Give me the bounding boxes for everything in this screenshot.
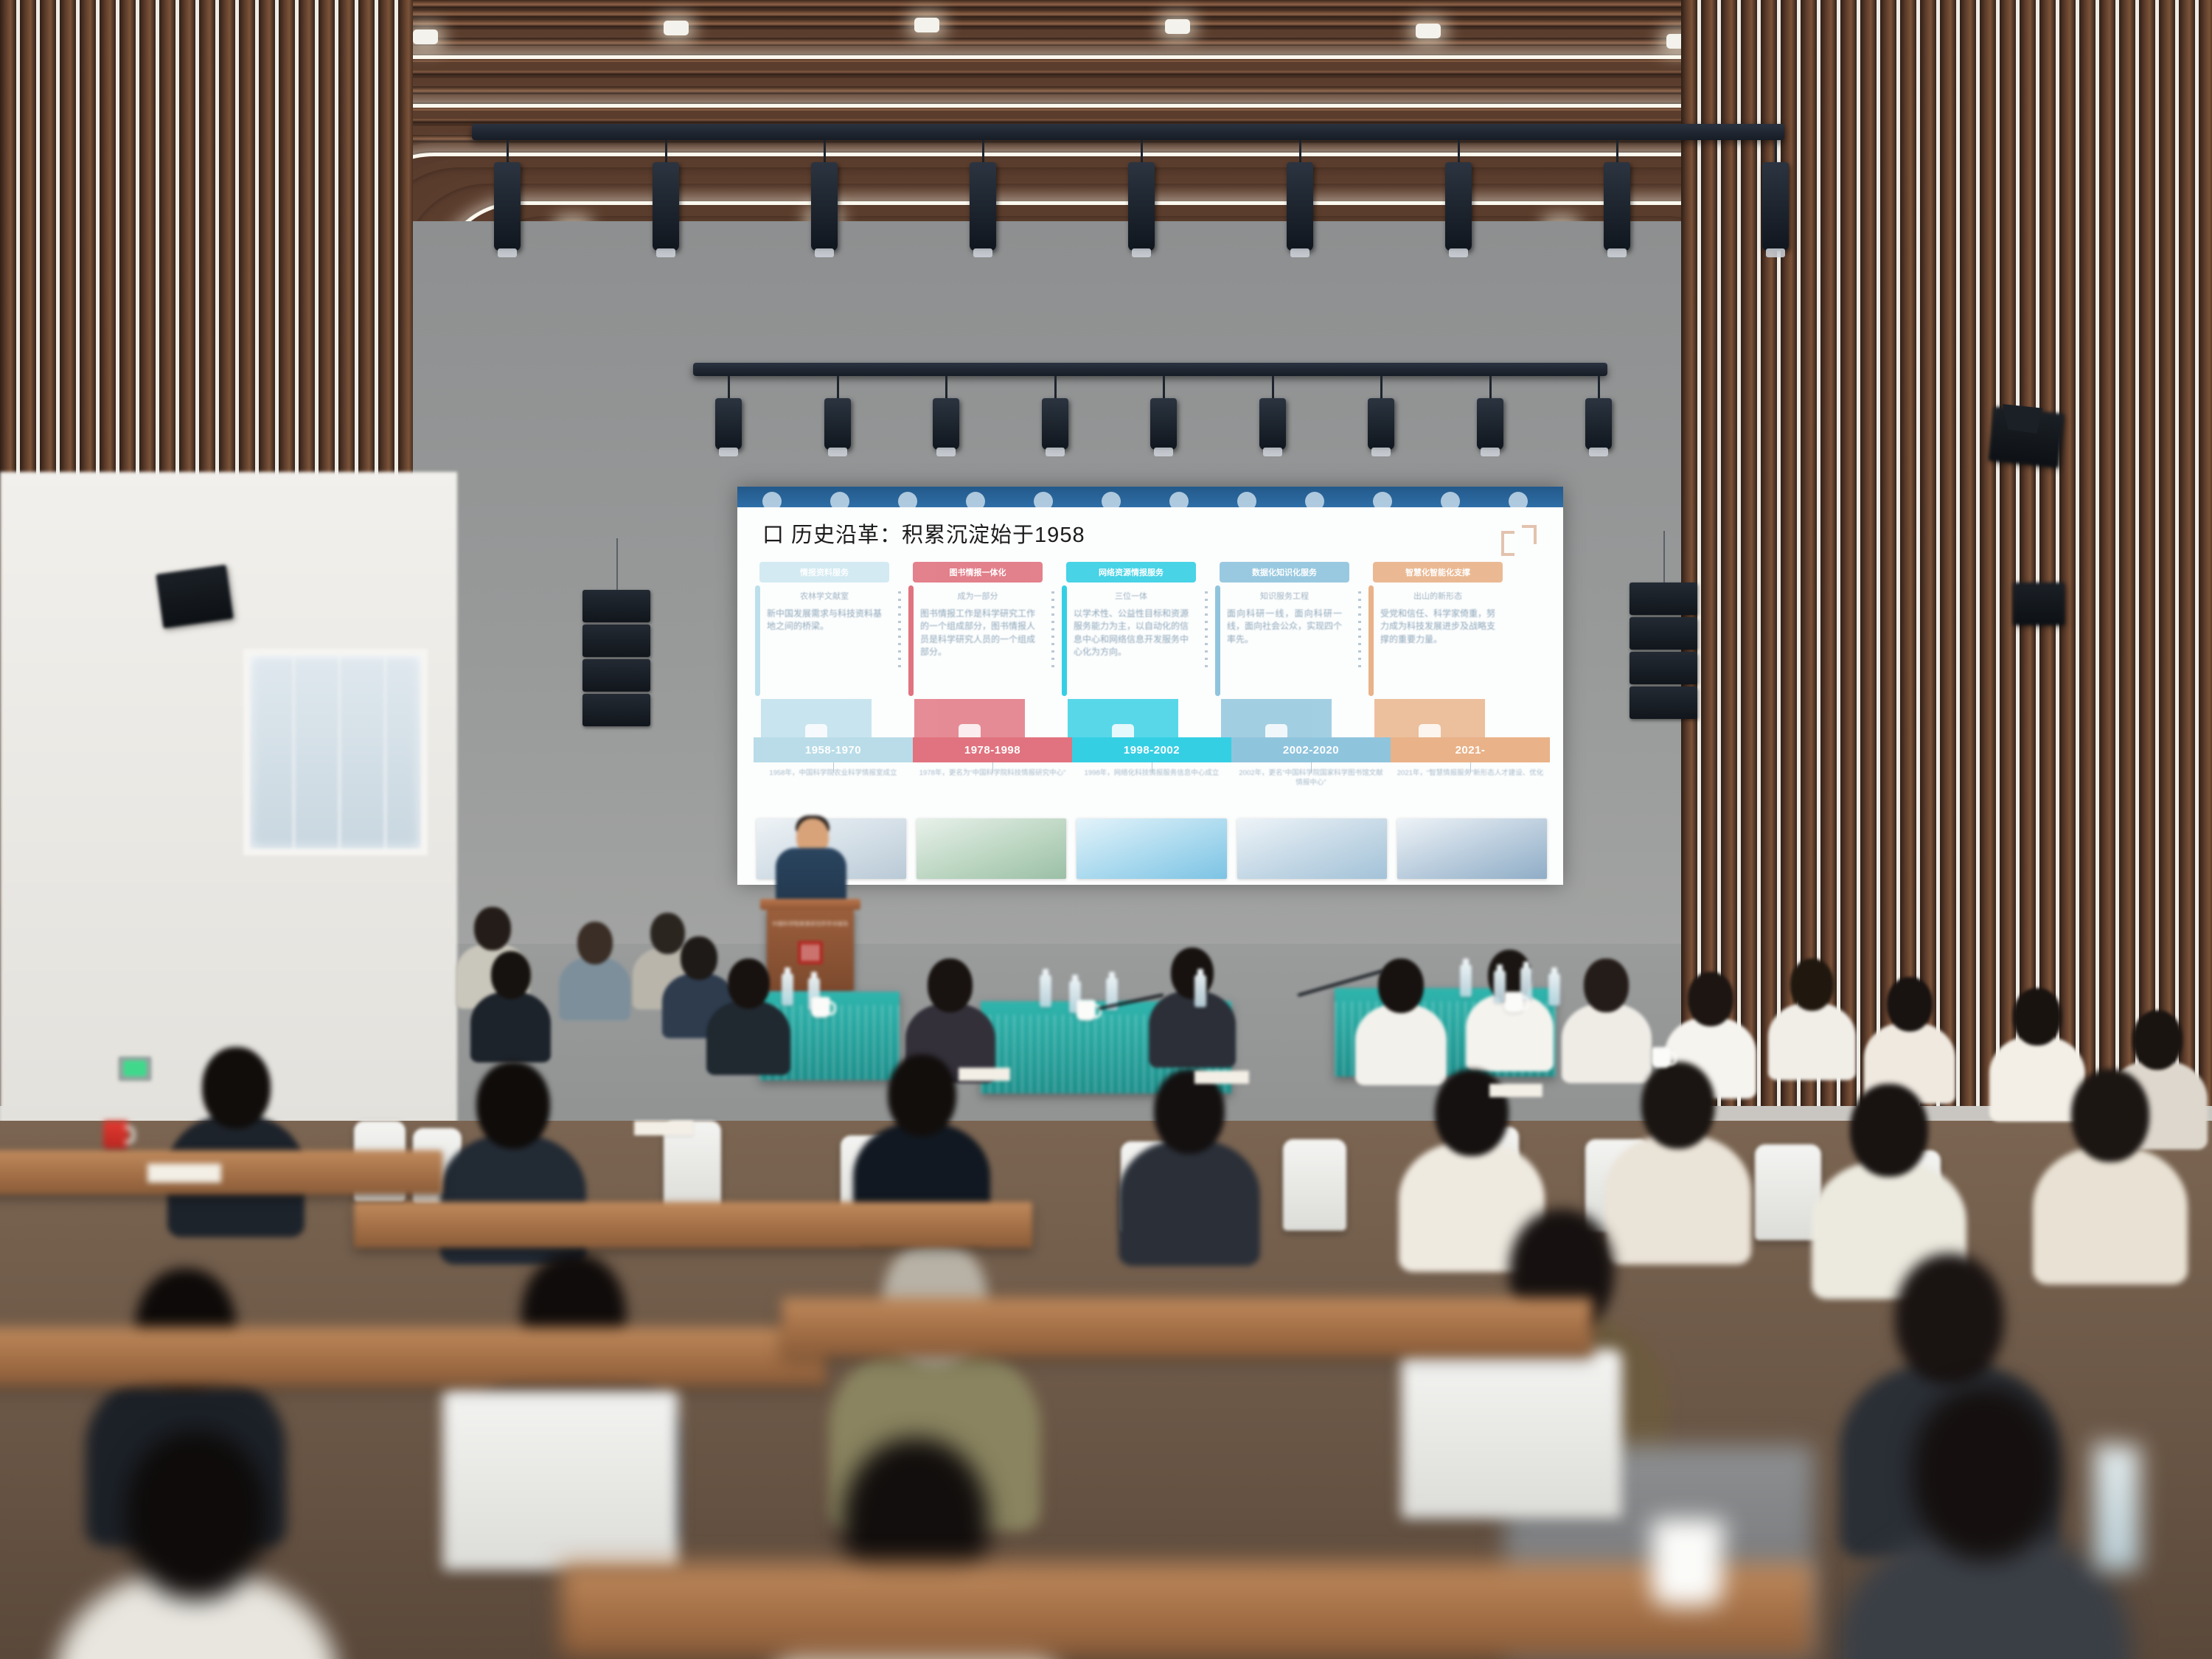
audience-person (1357, 959, 1445, 1084)
timeline-card-subtitle: 农林学文献室 (759, 590, 889, 602)
person-head (474, 907, 511, 950)
wall-slat (1681, 0, 1697, 1106)
person-head (1790, 959, 1834, 1011)
timeline-note: 2021年，“智慧情报服务”新形态人才建设、优化 (1391, 768, 1550, 798)
stage-light-fixture (933, 398, 959, 450)
document-paper (1194, 1071, 1249, 1084)
light-hanging-rod (1616, 140, 1618, 165)
audience-person (59, 1430, 333, 1659)
wall-slat (1900, 0, 1916, 1106)
foreground-chair-3 (1401, 1349, 1622, 1519)
screen-top-band (737, 487, 1563, 507)
wall-slat (2020, 0, 2036, 1106)
timeline-period-bar: 1958-19701978-19981998-20022002-20202021… (754, 737, 1550, 762)
timeline-note: 1958年，中国科学院农业科学情报室成立 (754, 768, 913, 798)
wall-slat (1920, 0, 1936, 1106)
building-photo-1978 (917, 818, 1066, 879)
light-hanging-rod (1272, 376, 1274, 401)
audience-chair (1283, 1139, 1346, 1231)
timeline-dot-divider (1051, 591, 1054, 672)
timeline-card-chip: 情报资料服务 (759, 562, 889, 582)
light-hanging-rod (665, 140, 667, 165)
light-hanging-rod (837, 376, 839, 401)
audience-table-row1-left (0, 1150, 442, 1194)
person-head (1435, 1069, 1508, 1156)
timeline-note: 1978年，更名为“中国科学院科技情报研究中心” (913, 768, 1072, 798)
person-head (1688, 972, 1733, 1026)
stage-light-fixture (1128, 162, 1155, 251)
person-head (888, 1054, 956, 1136)
timeline-period-label: 2021- (1391, 737, 1550, 762)
water-bottle (1548, 973, 1560, 1006)
audience-person (708, 959, 789, 1074)
institute-emblem-icon (798, 941, 823, 964)
person-head (1850, 1084, 1927, 1177)
light-hanging-rod (1054, 376, 1057, 401)
timeline-note: 1998年，网络化科技情报服务信息中心成立 (1072, 768, 1231, 798)
audience-person (1121, 1069, 1258, 1264)
emergency-exit-sign (119, 1057, 151, 1080)
light-hanging-rod (1380, 376, 1382, 401)
timeline-card-accent (1368, 585, 1374, 696)
stage-light-fixture (1762, 162, 1789, 251)
lecture-hall-photo: 口 历史沿革：积累沉淀始于1958 情报资料服务农林学文献室新中国发展需求与科技… (0, 0, 2212, 1659)
wall-slat (2099, 0, 2115, 1106)
person-head (2132, 1010, 2183, 1070)
stage-light-fixture (494, 162, 521, 251)
person-head (577, 922, 613, 964)
audience-table-row2 (354, 1202, 1032, 1248)
stage-light-fixture (824, 398, 851, 450)
wall-slat (2039, 0, 2056, 1106)
building-photo-2002 (1237, 818, 1387, 879)
stage-light-fixture (1368, 398, 1394, 450)
wall-slat (1840, 0, 1857, 1106)
stage-light-fixture (1042, 398, 1068, 450)
building-photo-1998 (1077, 818, 1226, 879)
wall-slat (1880, 0, 1896, 1106)
red-mug (103, 1121, 128, 1149)
wall-slat (2199, 0, 2212, 1106)
building-photo-2021 (1397, 818, 1547, 879)
light-hanging-rod (824, 140, 826, 165)
person-head (2071, 1069, 2149, 1162)
timeline-card-chip: 数据化知识化服务 (1220, 562, 1349, 582)
document-paper (634, 1121, 693, 1135)
person-head (491, 951, 532, 999)
bracket-logo-icon (1501, 525, 1537, 554)
timeline-card-subtitle: 出山的新形态 (1373, 590, 1503, 602)
timeline-card: 图书情报一体化成为一部分图书情报工作是科学研究工作的一个组成部分，图书情报人员是… (913, 562, 1043, 659)
person-head (928, 959, 973, 1012)
tea-mug (1077, 1000, 1096, 1020)
wall-slat (2179, 0, 2195, 1106)
wall-slat (1741, 0, 1757, 1106)
timeline-dot-divider (898, 591, 901, 672)
stage-light-fixture (1150, 398, 1177, 450)
light-hanging-rod (507, 140, 509, 165)
person-head (1641, 1062, 1714, 1149)
audience-person (560, 922, 630, 1020)
light-hanging-rod (1163, 376, 1165, 401)
light-hanging-rod (1458, 140, 1460, 165)
person-torso (470, 992, 551, 1063)
right-wood-wall (1681, 0, 2212, 1106)
stage-light-fixture (811, 162, 838, 251)
podium-banner-text: 中国科学院某某研究所学术报告 (767, 920, 854, 928)
ceiling-downlight (1416, 24, 1441, 38)
wall-slat (1940, 0, 1956, 1106)
person-torso (1149, 991, 1236, 1068)
timeline-card-body: 受党和信任、科学家倚重，努力成为科技发展进步及战略支撑的重要力量。 (1373, 608, 1503, 646)
timeline-period-label: 1978-1998 (913, 737, 1072, 762)
light-hanging-rod (1299, 140, 1301, 165)
person-head (728, 959, 770, 1009)
audience-person (1150, 947, 1234, 1067)
wall-slat (1980, 0, 1996, 1106)
timeline-card-accent (908, 585, 914, 696)
wall-speaker-left (156, 565, 233, 629)
light-hanging-rod (1141, 140, 1143, 165)
timeline-period-label: 2002-2020 (1231, 737, 1391, 762)
timeline-card-chip: 智慧化智能化支撑 (1373, 562, 1503, 582)
person-torso (1119, 1140, 1260, 1266)
tea-mug (1652, 1047, 1671, 1068)
light-hanging-rod (728, 376, 730, 401)
wall-slat (2000, 0, 2016, 1106)
light-hanging-rod (1598, 376, 1600, 401)
building-photo-strip (757, 818, 1547, 879)
wall-slat (2159, 0, 2175, 1106)
wireless-mic-antenna-icon (2003, 404, 2042, 434)
timeline-card-body: 新中国发展需求与科技资料基地之间的桥梁。 (759, 608, 889, 633)
stage-light-fixture (1604, 162, 1630, 251)
stage-light-fixture (653, 162, 679, 251)
timeline-dot-divider (1358, 591, 1361, 672)
timeline-card-body: 面向科研一线，面向科研一线，面向社会公众，实现四个率先。 (1220, 608, 1349, 646)
timeline-card-subtitle: 知识服务工程 (1220, 590, 1349, 602)
timeline-notes: 1958年，中国科学院农业科学情报室成立1978年，更名为“中国科学院科技情报研… (754, 768, 1550, 798)
side-window (243, 649, 428, 855)
wall-slat (1820, 0, 1837, 1106)
person-head (1378, 959, 1424, 1013)
ceiling-downlight (1165, 19, 1190, 34)
foreground-chair-2 (442, 1386, 678, 1571)
stage-light-fixture (1287, 162, 1313, 251)
audience-person (170, 1047, 302, 1235)
timeline-card-accent (1215, 585, 1220, 696)
timeline-card-accent (1062, 585, 1067, 696)
audience-table-foreground (560, 1563, 1814, 1659)
person-torso (1768, 1003, 1856, 1081)
wall-slat (1801, 0, 1817, 1106)
timeline-card-subtitle: 三位一体 (1066, 590, 1196, 602)
light-hanging-rod (1775, 140, 1777, 165)
timeline-card: 数据化知识化服务知识服务工程面向科研一线，面向科研一线，面向社会公众，实现四个率… (1220, 562, 1349, 646)
stage-light-fixture (1445, 162, 1472, 251)
person-torso (559, 957, 630, 1020)
presentation-slide: 口 历史沿革：积累沉淀始于1958 情报资料服务农林学文献室新中国发展需求与科技… (737, 507, 1563, 885)
timeline-card-chip: 网络资源情报服务 (1066, 562, 1196, 582)
person-head (1887, 977, 1933, 1032)
person-head (1171, 947, 1214, 999)
audience-person (1843, 1386, 2126, 1659)
person-torso (2033, 1147, 2188, 1284)
water-bottle (782, 973, 793, 1006)
water-bottle (1460, 964, 1472, 997)
wall-slat (1960, 0, 1976, 1106)
notebook-paper (147, 1164, 221, 1183)
tea-mug (1504, 992, 1523, 1012)
person-head (1895, 1253, 2005, 1385)
timeline-card-accent (755, 585, 760, 696)
timeline-card: 网络资源情报服务三位一体以学术性、公益性目标和资源服务能力为主，以自动化的信息中… (1066, 562, 1196, 659)
timeline-card-body: 图书情报工作是科学研究工作的一个组成部分，图书情报人员是科学研究人员的一个组成部… (913, 608, 1043, 659)
timeline-card-subtitle: 成为一部分 (913, 590, 1043, 602)
line-array-speaker-right (1630, 582, 1697, 721)
water-bottle (1194, 975, 1206, 1007)
wall-speaker-right-lower (2013, 582, 2065, 625)
person-head (125, 1430, 267, 1599)
wall-slat (2139, 0, 2155, 1106)
podium-top (760, 899, 860, 910)
timeline-card-body: 以学术性、公益性目标和资源服务能力为主，以自动化的信息中心和网络信息开发服务中心… (1066, 608, 1196, 659)
wall-slat (1860, 0, 1877, 1106)
audience-person (472, 951, 550, 1062)
wall-slat (1701, 0, 1717, 1106)
stage-light-fixture (715, 398, 742, 450)
water-bottle (1040, 975, 1051, 1007)
ceiling-downlight (664, 21, 689, 35)
lighting-truss-bar (472, 124, 1784, 140)
timeline-period-label: 1998-2002 (1072, 737, 1231, 762)
document-paper (959, 1068, 1010, 1081)
stage-light-fixture (1585, 398, 1612, 450)
audience-person (2035, 1069, 2185, 1282)
person-head (1584, 959, 1629, 1012)
wall-slat (2119, 0, 2135, 1106)
audience-table-row3 (0, 1327, 826, 1386)
foreground-white-bottle (1652, 1519, 1722, 1606)
person-torso (706, 1001, 790, 1075)
timeline-dot-divider (1205, 591, 1208, 672)
light-hanging-rod (1489, 376, 1492, 401)
line-array-speaker-left (582, 590, 650, 728)
stage-light-fixture (970, 162, 996, 251)
projection-screen: 口 历史沿革：积累沉淀始于1958 情报资料服务农林学文献室新中国发展需求与科技… (737, 487, 1563, 885)
ceiling-downlight (914, 18, 939, 32)
slide-title: 口 历史沿革：积累沉淀始于1958 (762, 518, 1085, 549)
timeline-card-chip: 图书情报一体化 (913, 562, 1043, 582)
person-head (202, 1047, 271, 1129)
light-hanging-rod (945, 376, 947, 401)
person-head (2013, 988, 2061, 1046)
person-head (1912, 1386, 2058, 1561)
timeline-card: 情报资料服务农林学文献室新中国发展需求与科技资料基地之间的桥梁。 (759, 562, 889, 633)
audience-person (1770, 959, 1854, 1079)
wall-slat (2059, 0, 2076, 1106)
timeline-note: 2002年，更名“中国科学院国家科学图书馆文献情报中心” (1231, 768, 1391, 798)
person-head (476, 1062, 549, 1149)
wall-slat (2079, 0, 2096, 1106)
ceiling-downlight (413, 29, 438, 44)
wall-slat (1721, 0, 1737, 1106)
audience-table-row4 (782, 1298, 1593, 1357)
timeline-period-label: 1958-1970 (754, 737, 913, 762)
timeline-card: 智慧化智能化支撑出山的新形态受党和信任、科学家倚重，努力成为科技发展进步及战略支… (1373, 562, 1503, 646)
stage-light-fixture (1259, 398, 1286, 450)
tea-mug (811, 997, 830, 1018)
document-paper (1489, 1084, 1543, 1097)
light-hanging-rod (982, 140, 984, 165)
lighting-truss-bar (693, 363, 1607, 376)
foreground-water-bottle (2094, 1445, 2140, 1571)
stage-light-fixture (1477, 398, 1503, 450)
